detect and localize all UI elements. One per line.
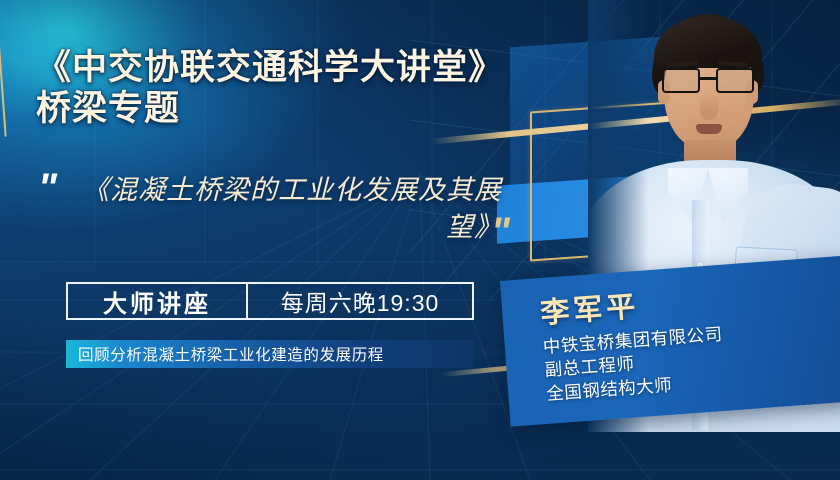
lecture-subtitle-bar: 回顾分析混凝土桥梁工业化建造的发展历程 [66,340,474,368]
quote-mark-close: " [491,212,508,252]
poster-canvas: 《中交协联交通科学大讲堂》 桥梁专题 " 《混凝土桥梁的工业化发展及其展望》 "… [0,0,840,480]
portrait-glasses [662,68,758,94]
glasses-bridge [700,77,716,80]
quote-mark-open: " [38,168,55,208]
lecture-topic-quote: " 《混凝土桥梁的工业化发展及其展望》 " [36,168,536,264]
speaker-info-content: 李军平 中铁宝桥集团有限公司 副总工程师 全国钢结构大师 [500,256,840,431]
portrait-hair-front [654,16,762,68]
lecture-schedule-time: 每周六晚19:30 [248,284,472,318]
lecture-schedule-box: 大师讲座 每周六晚19:30 [66,282,474,320]
lecture-topic-text: 《混凝土桥梁的工业化发展及其展望》 [82,172,502,247]
glasses-lens-right [716,68,754,93]
portrait-nose [700,94,718,120]
glasses-lens-left [662,68,700,93]
lecture-subtitle-text: 回顾分析混凝土桥梁工业化建造的发展历程 [66,343,384,365]
lecture-series-label: 大师讲座 [68,284,246,318]
portrait-mouth [696,124,722,134]
